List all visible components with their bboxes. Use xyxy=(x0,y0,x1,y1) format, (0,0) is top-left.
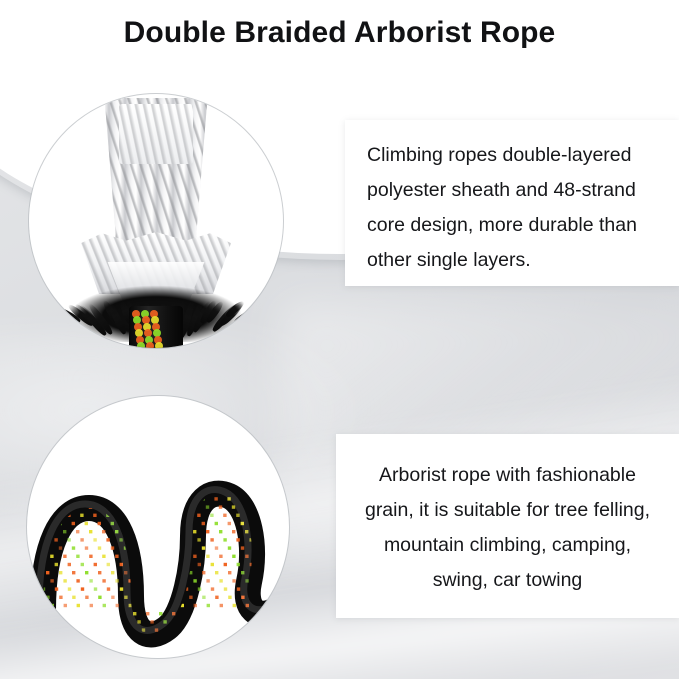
rope-fleck xyxy=(205,432,208,435)
rope-fleck xyxy=(206,505,209,508)
rope-fleck xyxy=(115,579,118,582)
rope-fleck xyxy=(132,489,135,492)
rope-fleck xyxy=(41,514,44,517)
rope-fleck xyxy=(81,637,84,640)
rope-fleck xyxy=(253,423,256,426)
rope-fleck xyxy=(219,530,222,533)
rope-fleck xyxy=(76,481,79,484)
rope-fleck xyxy=(166,456,169,459)
rope-fleck xyxy=(198,563,201,566)
rope-fleck xyxy=(201,448,204,451)
rope-fleck xyxy=(211,612,214,615)
rope-fleck xyxy=(201,423,204,426)
rope-fleck xyxy=(68,563,71,566)
rope-fleck xyxy=(158,538,161,541)
rope-fleck xyxy=(67,489,70,492)
rope-fleck xyxy=(198,612,201,615)
rope-fleck xyxy=(227,399,230,402)
rope-fleck xyxy=(275,464,278,467)
core-top-flare xyxy=(119,104,193,164)
rope-fleck xyxy=(107,612,110,615)
rope-fleck xyxy=(279,423,282,426)
rope-fleck xyxy=(150,571,153,574)
rope-fleck xyxy=(280,522,283,525)
rope-fleck xyxy=(232,530,235,533)
rope-fleck xyxy=(236,440,239,443)
rope-fleck xyxy=(202,546,205,549)
rope-fleck xyxy=(232,505,235,508)
rope-fleck xyxy=(210,464,213,467)
rope-fleck xyxy=(115,481,118,484)
rope-fleck xyxy=(150,546,153,549)
rope-fleck xyxy=(253,399,256,402)
rope-fleck xyxy=(50,505,53,508)
rope-fleck xyxy=(58,473,61,476)
rope-fleck xyxy=(54,464,57,467)
rope-fleck xyxy=(228,571,231,574)
rope-fleck xyxy=(227,473,230,476)
rope-fleck xyxy=(214,497,217,500)
rope-fleck xyxy=(172,563,175,566)
rope-fleck xyxy=(215,546,218,549)
rope-fleck xyxy=(37,481,40,484)
rope-fleck xyxy=(257,456,260,459)
rope-fleck xyxy=(215,596,218,599)
rope-fleck xyxy=(98,596,101,599)
rope-fleck xyxy=(171,440,174,443)
rope-fleck xyxy=(279,399,282,402)
rope-fleck xyxy=(198,587,201,590)
rope-fleck xyxy=(63,579,66,582)
rope-fleck xyxy=(28,538,31,541)
rope-fleck xyxy=(116,628,119,631)
rope-fleck xyxy=(189,596,192,599)
black-sheath-body xyxy=(129,306,183,348)
rope-fleck xyxy=(193,530,196,533)
rope-fleck xyxy=(166,432,169,435)
rope-fleck xyxy=(223,538,226,541)
rope-core-illustration xyxy=(29,94,283,348)
rope-fleck xyxy=(93,489,96,492)
rope-fleck xyxy=(167,481,170,484)
rope-fleck xyxy=(267,522,270,525)
rope-fleck xyxy=(266,399,269,402)
rope-fleck xyxy=(140,432,143,435)
rope-fleck xyxy=(240,448,243,451)
rope-fleck xyxy=(266,423,269,426)
rope-fleck xyxy=(157,415,160,418)
rope-fleck xyxy=(235,415,238,418)
rope-fleck xyxy=(64,628,67,631)
product-infographic: Double Braided Arborist Rope xyxy=(0,0,679,679)
rope-fleck xyxy=(262,514,265,517)
rope-fleck xyxy=(202,596,205,599)
rope-fleck xyxy=(171,489,174,492)
rope-fleck xyxy=(111,571,114,574)
rope-fleck xyxy=(214,399,217,402)
rope-fleck xyxy=(227,448,230,451)
rope-fleck xyxy=(288,489,289,492)
rope-fleck xyxy=(237,587,240,590)
rope-fleck xyxy=(110,448,113,451)
rope-fleck xyxy=(175,448,178,451)
rope-fleck xyxy=(154,530,157,533)
rope-fleck xyxy=(106,489,109,492)
rope-fleck xyxy=(88,456,91,459)
rope-fleck xyxy=(171,538,174,541)
rope-fleck xyxy=(93,538,96,541)
rope-fleck xyxy=(136,399,139,402)
rope-fleck xyxy=(141,505,144,508)
rope-fleck xyxy=(71,423,74,426)
rope-fleck xyxy=(175,497,178,500)
rope-fleck xyxy=(103,604,106,607)
rope-fleck xyxy=(127,407,130,410)
rope-fleck xyxy=(202,522,205,525)
rope-fleck xyxy=(214,448,217,451)
rope-fleck xyxy=(283,456,286,459)
rope-fleck xyxy=(38,628,41,631)
rope-fleck xyxy=(240,423,243,426)
rope-fleck xyxy=(29,637,32,640)
rope-fleck xyxy=(128,481,131,484)
feature-text-construction: Climbing ropes double-layered polyester … xyxy=(367,138,663,278)
rope-fleck xyxy=(211,587,214,590)
rope-fleck xyxy=(145,440,148,443)
rope-fleck xyxy=(58,399,61,402)
rope-fleck xyxy=(206,555,209,558)
rope-fleck xyxy=(123,399,126,402)
rope-fleck xyxy=(32,448,35,451)
rope-fleck xyxy=(218,456,221,459)
rope-fleck xyxy=(33,522,36,525)
rope-fleck xyxy=(162,399,165,402)
rope-fleck xyxy=(59,571,62,574)
rope-fleck xyxy=(120,637,123,640)
rope-fleck xyxy=(102,530,105,533)
rope-fleck xyxy=(244,432,247,435)
rope-fleck xyxy=(55,587,58,590)
feature-text-panel-applications: Arborist rope with fashionable grain, it… xyxy=(336,434,679,618)
rope-fleck xyxy=(270,432,273,435)
rope-fleck xyxy=(145,538,148,541)
rope-fleck xyxy=(72,596,75,599)
coiled-rope-illustration xyxy=(27,396,289,658)
rope-fleck xyxy=(89,481,92,484)
rope-fleck xyxy=(46,571,49,574)
rope-fleck xyxy=(205,407,208,410)
rope-fleck xyxy=(288,440,289,443)
rope-fleck xyxy=(171,514,174,517)
rope-fleck xyxy=(188,473,191,476)
rope-fleck xyxy=(62,432,65,435)
rope-fleck xyxy=(284,555,287,558)
rope-fleck xyxy=(45,497,48,500)
rope-fleck xyxy=(115,555,118,558)
rope-fleck xyxy=(262,440,265,443)
rope-fleck xyxy=(244,456,247,459)
rope-fleck xyxy=(205,456,208,459)
rope-fleck xyxy=(162,448,165,451)
rope-fleck xyxy=(27,555,28,558)
rope-fleck xyxy=(146,587,149,590)
rope-fleck xyxy=(32,423,35,426)
rope-fleck xyxy=(210,440,213,443)
rope-fleck xyxy=(263,637,266,640)
rope-fleck xyxy=(123,448,126,451)
rope-fleck xyxy=(75,407,78,410)
rope-fleck xyxy=(231,456,234,459)
rope-fleck xyxy=(102,555,105,558)
rope-fleck xyxy=(140,456,143,459)
rope-fleck xyxy=(140,407,143,410)
rope-fleck xyxy=(71,399,74,402)
page-title: Double Braided Arborist Rope xyxy=(0,16,679,50)
rope-fleck xyxy=(167,579,170,582)
rope-fleck xyxy=(193,555,196,558)
rope-fleck xyxy=(167,505,170,508)
rope-fleck xyxy=(37,530,40,533)
rope-fleck xyxy=(94,637,97,640)
rope-fleck xyxy=(107,637,110,640)
rope-fleck xyxy=(207,628,210,631)
rope-fleck xyxy=(258,505,261,508)
rope-fleck xyxy=(158,464,161,467)
rope-fleck xyxy=(167,555,170,558)
rope-fleck xyxy=(149,448,152,451)
rope-fleck xyxy=(155,604,158,607)
rope-fleck xyxy=(33,546,36,549)
rope-fleck xyxy=(107,563,110,566)
rope-fleck xyxy=(111,620,114,623)
rope-fleck xyxy=(145,464,148,467)
rope-fleck xyxy=(159,612,162,615)
rope-fleck xyxy=(159,587,162,590)
rope-fleck xyxy=(184,464,187,467)
rope-fleck xyxy=(201,473,204,476)
rope-fleck xyxy=(88,407,91,410)
rope-fleck xyxy=(90,628,93,631)
rope-fleck xyxy=(71,473,74,476)
rope-fleck xyxy=(28,440,31,443)
rope-fleck xyxy=(111,596,114,599)
rope-fleck xyxy=(146,563,149,566)
rope-fleck xyxy=(227,423,230,426)
rope-fleck xyxy=(85,596,88,599)
rope-fleck xyxy=(249,440,252,443)
rope-fleck xyxy=(71,448,74,451)
rope-fleck xyxy=(189,620,192,623)
rope-fleck xyxy=(224,587,227,590)
rope-fleck xyxy=(62,407,65,410)
rope-fleck xyxy=(42,637,45,640)
rope-fleck xyxy=(246,628,249,631)
rope-fleck xyxy=(114,432,117,435)
rope-fleck xyxy=(263,587,266,590)
rope-fleck xyxy=(137,522,140,525)
rope-fleck xyxy=(89,555,92,558)
rope-fleck xyxy=(114,456,117,459)
rope-fleck xyxy=(72,571,75,574)
rope-fleck xyxy=(224,637,227,640)
rope-fleck xyxy=(211,563,214,566)
rope-fleck xyxy=(220,604,223,607)
rope-fleck xyxy=(94,612,97,615)
rope-fleck xyxy=(223,440,226,443)
rope-fleck xyxy=(97,473,100,476)
feature-text-panel-construction: Climbing ropes double-layered polyester … xyxy=(345,120,679,286)
rope-fleck xyxy=(171,464,174,467)
rope-fleck xyxy=(284,505,287,508)
rope-fleck xyxy=(144,415,147,418)
rope-fleck xyxy=(123,473,126,476)
rope-fleck xyxy=(94,587,97,590)
rope-fleck xyxy=(68,612,71,615)
rope-fleck xyxy=(101,432,104,435)
rope-fleck xyxy=(188,423,191,426)
rope-fleck xyxy=(119,464,122,467)
rope-fleck xyxy=(219,579,222,582)
rope-fleck xyxy=(32,473,35,476)
rope-fleck xyxy=(37,505,40,508)
rope-fleck xyxy=(102,579,105,582)
rope-fleck xyxy=(215,571,218,574)
rope-fleck xyxy=(80,489,83,492)
rope-fleck xyxy=(224,612,227,615)
rope-fleck xyxy=(270,407,273,410)
rope-fleck xyxy=(253,448,256,451)
rope-fleck xyxy=(67,440,70,443)
rope-fleck xyxy=(232,555,235,558)
rope-fleck xyxy=(210,538,213,541)
rope-fleck xyxy=(262,489,265,492)
rope-fleck xyxy=(68,637,71,640)
rope-fleck xyxy=(149,423,152,426)
rope-fleck xyxy=(283,432,286,435)
rope-fleck xyxy=(274,415,277,418)
rope-fleck xyxy=(275,440,278,443)
rope-fleck xyxy=(176,546,179,549)
rope-fleck xyxy=(93,464,96,467)
rope-fleck xyxy=(89,579,92,582)
rope-fleck xyxy=(158,489,161,492)
rope-fleck xyxy=(72,546,75,549)
rope-fleck xyxy=(237,637,240,640)
rope-fleck xyxy=(197,538,200,541)
rope-fleck xyxy=(63,555,66,558)
rope-fleck xyxy=(280,546,283,549)
rope-fleck xyxy=(29,563,32,566)
rope-fleck xyxy=(67,464,70,467)
feature-text-applications: Arborist rope with fashionable grain, it… xyxy=(354,458,661,598)
rope-fleck xyxy=(93,440,96,443)
rope-fleck xyxy=(188,399,191,402)
rope-fleck xyxy=(58,497,61,500)
rope-fleck xyxy=(101,407,104,410)
rope-fleck xyxy=(101,456,104,459)
rope-fleck xyxy=(228,522,231,525)
rope-fleck xyxy=(197,464,200,467)
rope-fleck xyxy=(257,432,260,435)
rope-fleck xyxy=(288,514,289,517)
rope-fleck xyxy=(136,423,139,426)
rope-fleck xyxy=(146,342,154,348)
rope-fleck xyxy=(72,522,75,525)
rope-fleck xyxy=(80,464,83,467)
rope-fleck xyxy=(276,563,279,566)
rope-fleck xyxy=(153,456,156,459)
rope-fleck xyxy=(123,423,126,426)
rope-fleck xyxy=(141,555,144,558)
rope-fleck xyxy=(276,587,279,590)
rope-fleck xyxy=(219,555,222,558)
rope-fleck xyxy=(249,489,252,492)
feature-image-construction xyxy=(29,94,283,348)
rope-fleck xyxy=(192,456,195,459)
rope-fleck xyxy=(58,423,61,426)
rope-fleck xyxy=(59,620,62,623)
rope-fleck xyxy=(163,596,166,599)
rope-fleck xyxy=(261,415,264,418)
rope-fleck xyxy=(98,620,101,623)
rope-fleck xyxy=(27,604,28,607)
rope-fleck xyxy=(219,505,222,508)
rope-fleck xyxy=(271,481,274,484)
rope-fleck xyxy=(85,546,88,549)
rope-fleck xyxy=(267,571,270,574)
rope-fleck xyxy=(159,563,162,566)
rope-fleck xyxy=(127,432,130,435)
rope-fleck xyxy=(280,571,283,574)
rope-fleck xyxy=(259,628,262,631)
rope-fleck xyxy=(276,637,279,640)
rope-fleck xyxy=(97,423,100,426)
rope-fleck xyxy=(162,423,165,426)
rope-fleck xyxy=(119,440,122,443)
rope-fleck xyxy=(149,399,152,402)
rope-fleck xyxy=(150,522,153,525)
rope-fleck xyxy=(131,415,134,418)
rope-fleck xyxy=(50,481,53,484)
rope-fleck xyxy=(253,473,256,476)
rope-fleck xyxy=(110,473,113,476)
rope-fleck xyxy=(175,399,178,402)
rope-fleck xyxy=(153,407,156,410)
rope-fleck xyxy=(218,407,221,410)
rope-fleck xyxy=(102,481,105,484)
rope-fleck xyxy=(85,522,88,525)
rope-fleck xyxy=(154,579,157,582)
rope-fleck xyxy=(183,415,186,418)
rope-fleck xyxy=(28,464,31,467)
rope-fleck xyxy=(50,555,53,558)
rope-fleck xyxy=(84,473,87,476)
rope-fleck xyxy=(75,432,78,435)
rope-fleck xyxy=(285,628,288,631)
rope-fleck xyxy=(63,530,66,533)
rope-fleck xyxy=(288,538,289,541)
rope-fleck xyxy=(32,399,35,402)
rope-fleck xyxy=(103,628,106,631)
rope-fleck xyxy=(49,456,52,459)
rope-fleck xyxy=(81,612,84,615)
rope-fleck xyxy=(53,415,56,418)
rope-fleck xyxy=(202,620,205,623)
rope-fleck xyxy=(257,407,260,410)
rope-fleck xyxy=(94,563,97,566)
rope-fleck xyxy=(132,440,135,443)
rope-fleck xyxy=(209,415,212,418)
